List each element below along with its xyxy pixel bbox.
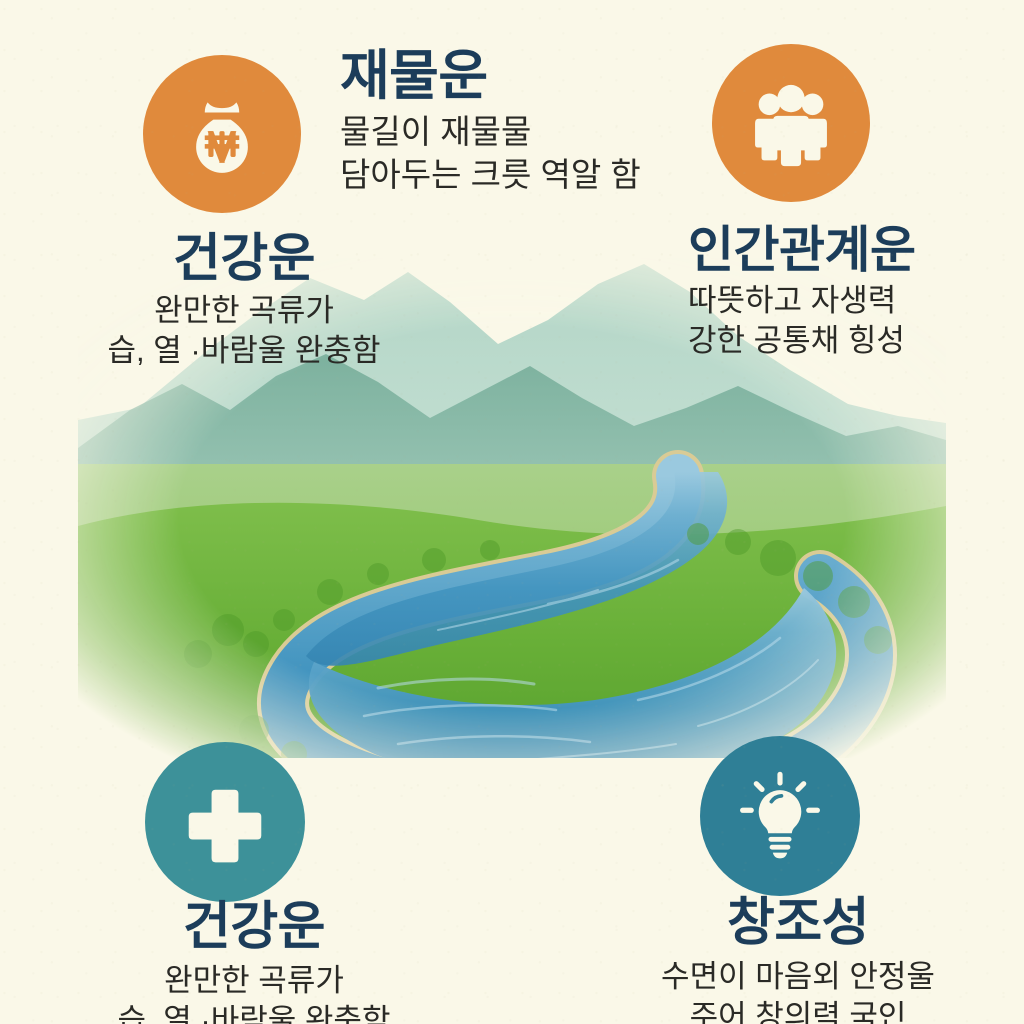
card-health-top: 건강운 완만한 곡류가 습, 열 ·바람울 완충함 [64,232,424,371]
card-health-top-title: 건강운 [64,232,424,287]
card-wealth-desc-line-1: 물길이 재물물 [340,111,641,154]
card-health-bottom: 건강운 완만한 곡류가 습, 열 ·바람울 완충함 [54,900,454,1024]
card-relations-title: 인간관계운 [688,224,916,277]
card-relations-description: 따뜻하고 자생력 강한 공통채 힝성 [688,281,916,362]
card-health-bottom-title: 건강운 [54,900,454,955]
card-wealth-title: 재물운 [340,48,641,105]
medical-cross-icon [145,742,305,902]
card-relations-desc-line-2: 강한 공통채 힝성 [688,321,916,361]
card-wealth-description: 물길이 재물물 담아두는 크릇 역알 함 [340,111,641,197]
three-people-icon [712,44,870,202]
card-wealth-desc-line-2: 담아두는 크릇 역알 함 [340,154,641,197]
card-health-bottom-desc-line-1: 완만한 곡류가 [54,961,454,1001]
card-health-top-desc-line-1: 완만한 곡류가 [64,291,424,331]
card-health-top-description: 완만한 곡류가 습, 열 ·바람울 완충함 [64,291,424,372]
card-creative-title: 창조성 [588,896,1008,951]
card-health-bottom-desc-line-2: 습, 열 ·바람울 완충함 [54,1001,454,1024]
card-health-bottom-description: 완만한 곡류가 습, 열 ·바람울 완충함 [54,961,454,1024]
card-relations-desc-line-1: 따뜻하고 자생력 [688,281,916,321]
infographic-poster: 재물운 물길이 재물물 담아두는 크릇 역알 함 인간관계운 따뜻하고 자생력 … [0,0,1024,1024]
card-creative-description: 수면이 마음외 안정울 주어 창의력 국인 [588,957,1008,1024]
card-wealth: 재물운 물길이 재물물 담아두는 크릇 역알 함 [340,48,641,196]
card-health-top-desc-line-2: 습, 열 ·바람울 완충함 [64,331,424,371]
lightbulb-idea-icon [700,736,860,896]
money-bag-won-icon [143,55,301,213]
card-creative: 창조성 수면이 마음외 안정울 주어 창의력 국인 [588,896,1008,1024]
card-creative-desc-line-2: 주어 창의력 국인 [588,997,1008,1024]
card-relations: 인간관계운 따뜻하고 자생력 강한 공통채 힝성 [688,224,916,361]
card-creative-desc-line-1: 수면이 마음외 안정울 [588,957,1008,997]
